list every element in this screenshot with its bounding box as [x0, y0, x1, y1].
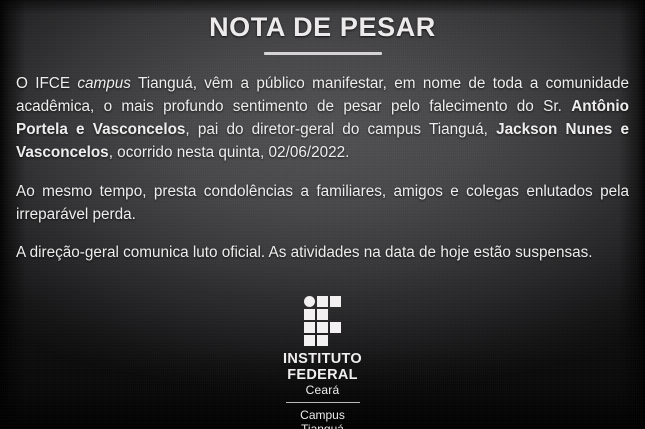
- instituto-federal-grid-logo-icon: [304, 296, 341, 346]
- logo-state-name: Ceará: [283, 384, 362, 396]
- logo-campus-label: Campus: [300, 408, 345, 422]
- logo-campus-name: Tianguá: [300, 422, 345, 429]
- paragraph-3: A direção-geral comunica luto oficial. A…: [16, 241, 629, 264]
- logo-line-federal: FEDERAL: [283, 368, 362, 383]
- nota-de-pesar-poster: NOTA DE PESAR O IFCE campus Tianguá, vêm…: [0, 0, 645, 429]
- logo-campus-block: Campus Tianguá: [300, 408, 345, 429]
- poster-header: NOTA DE PESAR: [0, 0, 645, 55]
- paragraph-2: Ao mesmo tempo, presta condolências a fa…: [16, 180, 629, 227]
- paragraph-1: O IFCE campus Tianguá, vêm a público man…: [16, 72, 629, 165]
- institution-logo: INSTITUTO FEDERAL Ceará Campus Tianguá: [0, 296, 645, 429]
- page-title: NOTA DE PESAR: [0, 13, 645, 43]
- poster-content: NOTA DE PESAR O IFCE campus Tianguá, vêm…: [0, 0, 645, 264]
- logo-wordmark: INSTITUTO FEDERAL Ceará: [283, 352, 362, 396]
- logo-line-instituto: INSTITUTO: [283, 352, 362, 367]
- logo-divider: [286, 402, 360, 403]
- poster-body: O IFCE campus Tianguá, vêm a público man…: [0, 55, 645, 265]
